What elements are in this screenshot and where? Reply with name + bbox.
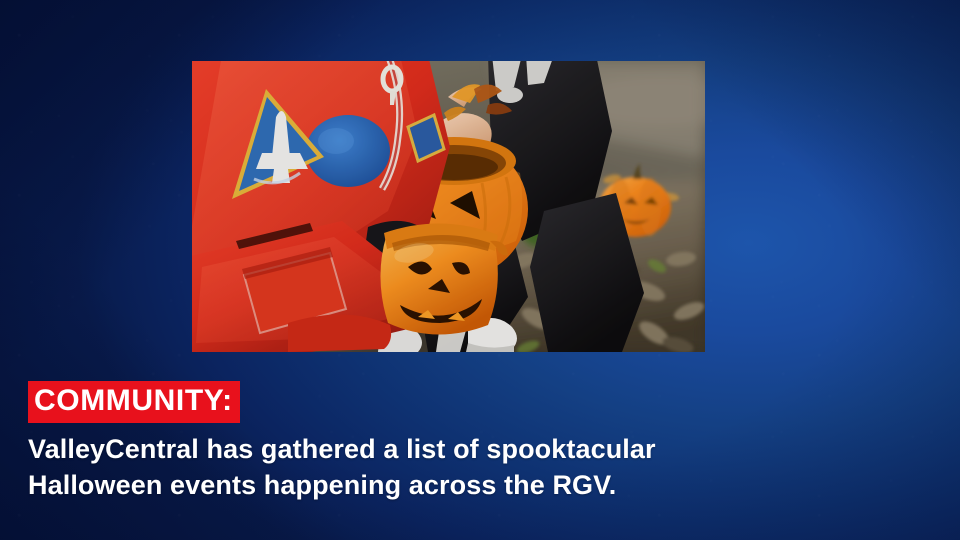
category-badge: COMMUNITY: — [28, 381, 240, 423]
caption-block: COMMUNITY: ValleyCentral has gathered a … — [28, 381, 728, 504]
kicker-row: COMMUNITY: — [28, 381, 728, 423]
headline-text: ValleyCentral has gathered a list of spo… — [28, 432, 668, 504]
news-graphic-slide: COMMUNITY: ValleyCentral has gathered a … — [0, 0, 960, 540]
halloween-photo — [192, 61, 705, 352]
